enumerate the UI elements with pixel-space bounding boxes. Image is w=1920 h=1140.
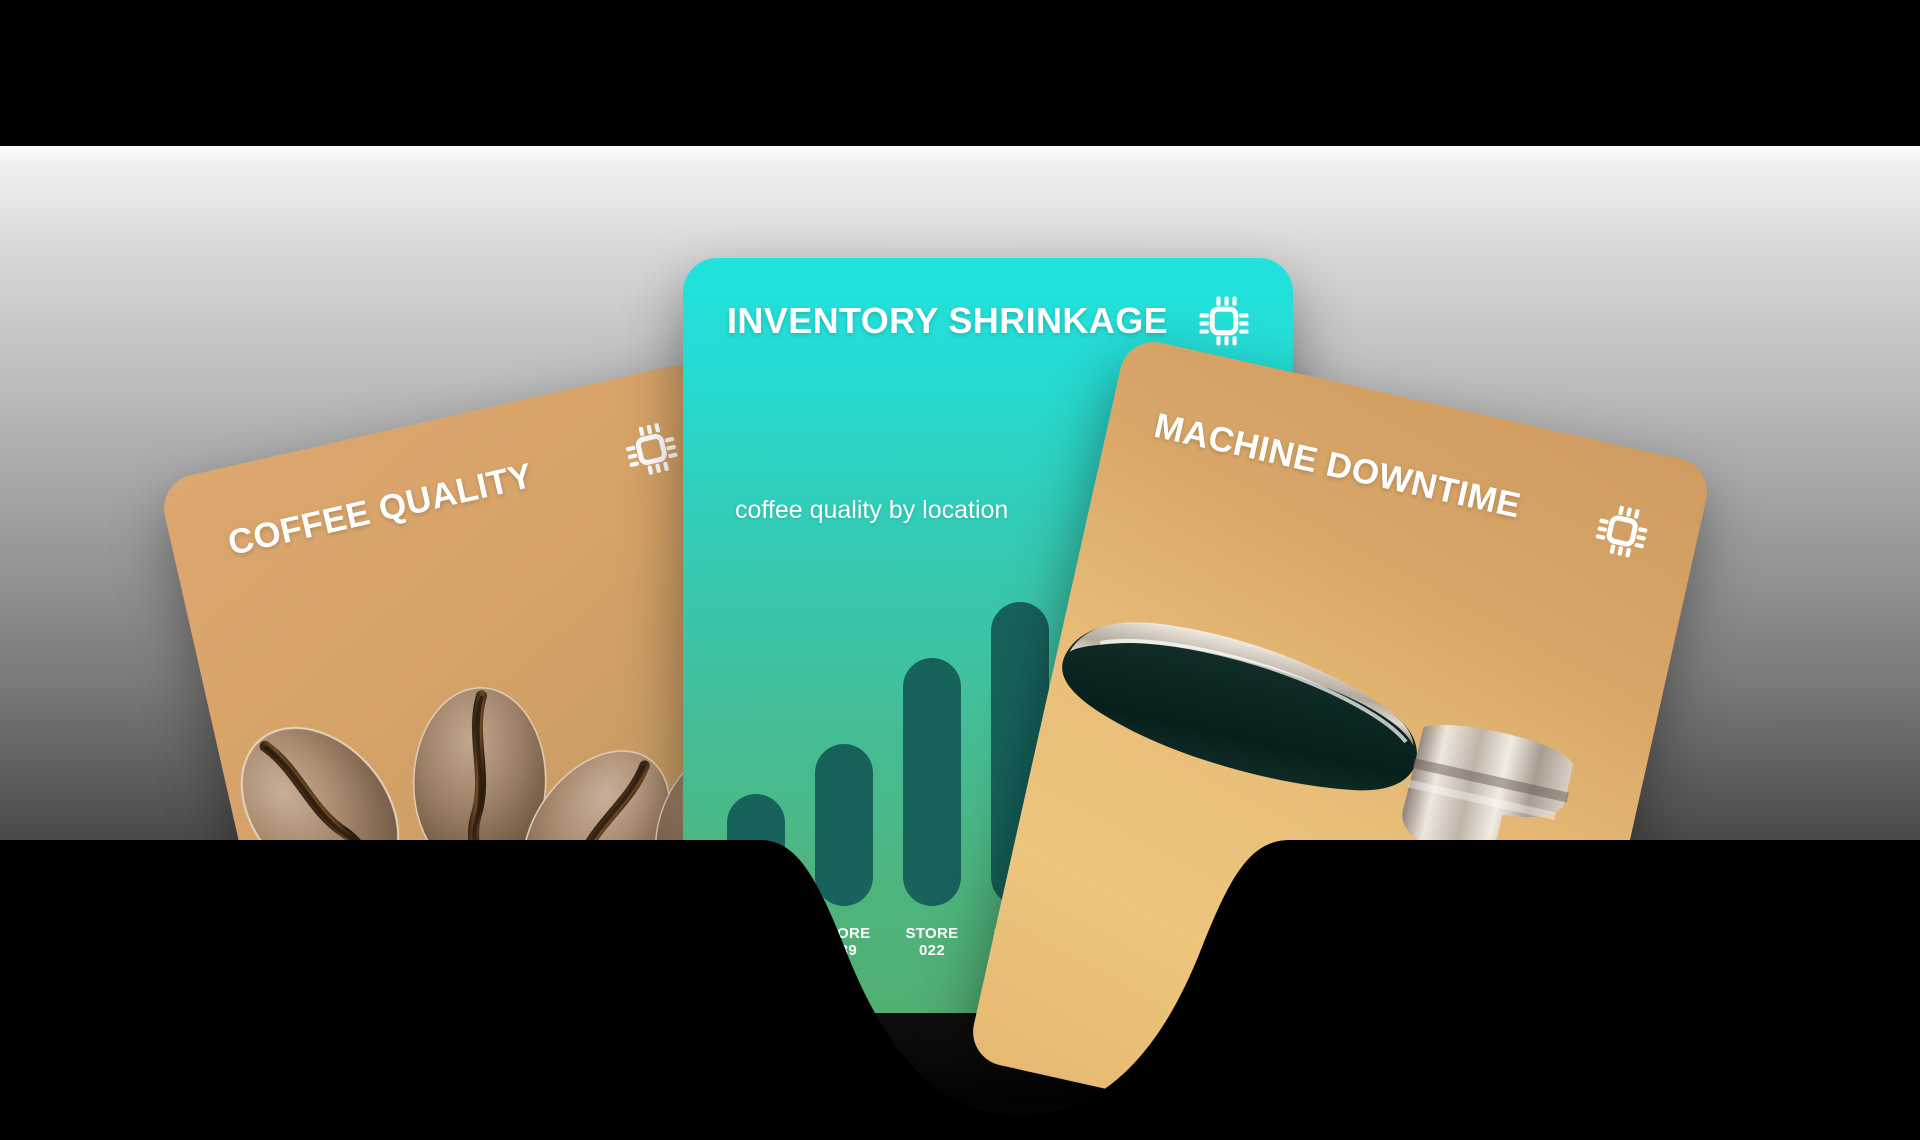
top-black-band (0, 0, 1920, 146)
wave-fill-left (0, 840, 690, 1140)
bar (727, 794, 785, 906)
chip-icon (1197, 294, 1251, 348)
bar (903, 658, 961, 906)
bar-column (727, 794, 785, 906)
bar-column (903, 658, 961, 906)
bar-label: STORE039 (809, 925, 879, 960)
card-subtitle-inventory-shrinkage: coffee quality by location (735, 496, 1008, 525)
bar-label: STORE012 (721, 925, 791, 960)
card-stack-scene: COFFEE QUALITY (0, 0, 1920, 1140)
chip-icon (619, 417, 684, 482)
bar-label: STORE022 (897, 925, 967, 960)
bar (815, 744, 873, 906)
card-title-coffee-quality: COFFEE QUALITY (224, 456, 536, 564)
chip-icon (1590, 499, 1654, 563)
bar-column (815, 744, 873, 906)
espresso-portafilter-photo (980, 540, 1668, 1130)
card-title-inventory-shrinkage: INVENTORY SHRINKAGE (727, 300, 1168, 342)
wave-fill-right (1620, 840, 1920, 1140)
card-title-machine-downtime: MACHINE DOWNTIME (1151, 406, 1525, 527)
